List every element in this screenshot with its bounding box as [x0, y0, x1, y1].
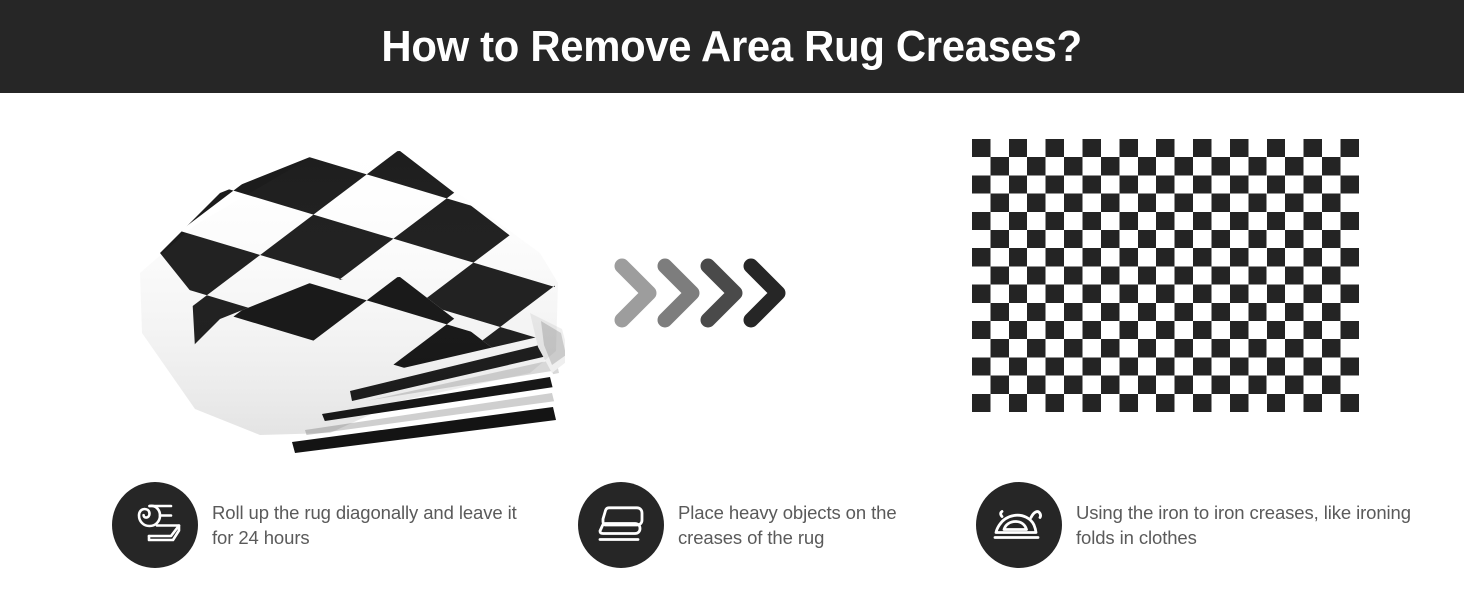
step-item-3: Using the iron to iron creases, like iro…	[976, 480, 1416, 570]
header-bar: How to Remove Area Rug Creases?	[0, 0, 1464, 93]
rolled-rug-icon	[112, 482, 198, 568]
step-item-1: Roll up the rug diagonally and leave it …	[112, 480, 532, 570]
steps-row: Roll up the rug diagonally and leave it …	[0, 480, 1464, 580]
step-caption-2: Place heavy objects on the creases of th…	[678, 500, 958, 550]
page-title: How to Remove Area Rug Creases?	[382, 25, 1082, 69]
chevron-arrows-group	[612, 253, 822, 333]
step-caption-3: Using the iron to iron creases, like iro…	[1076, 500, 1416, 550]
step-item-2: Place heavy objects on the creases of th…	[578, 480, 958, 570]
clothes-iron-icon	[976, 482, 1062, 568]
folded-blanket-stack-icon	[578, 482, 664, 568]
chevron-right-icon-3	[708, 266, 735, 320]
flat-checkerboard-rug-image	[972, 139, 1359, 412]
folded-rug-image	[100, 133, 565, 453]
chevron-right-icon-2	[665, 266, 692, 320]
step-caption-1: Roll up the rug diagonally and leave it …	[212, 500, 532, 550]
chevron-right-icon-1	[622, 266, 649, 320]
infographic-page: How to Remove Area Rug Creases?	[0, 0, 1464, 600]
chevron-right-icon-4	[751, 266, 778, 320]
